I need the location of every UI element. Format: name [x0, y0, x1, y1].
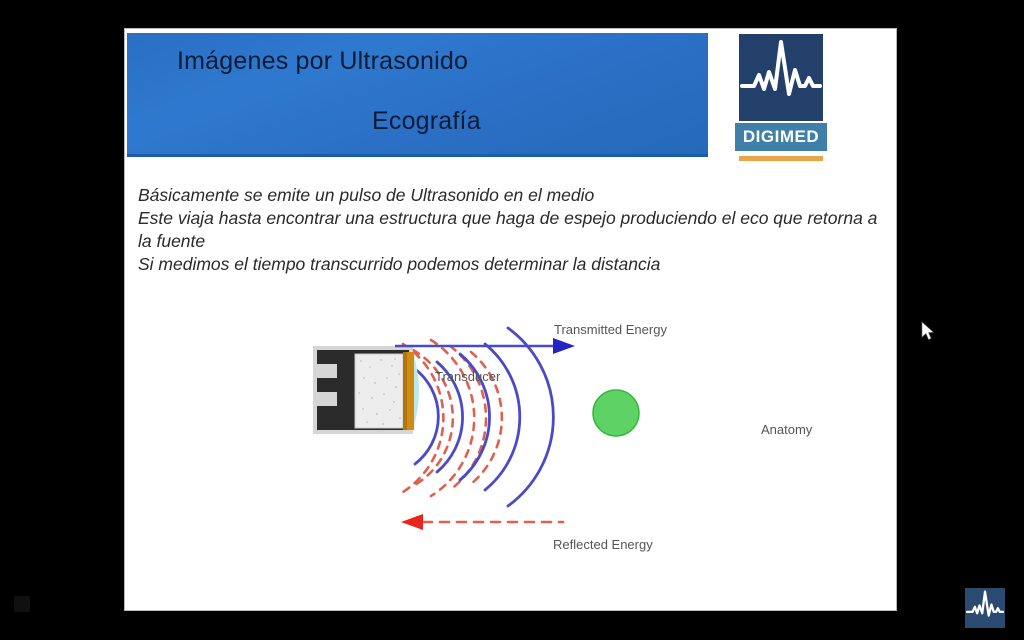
- slide-title-secondary: Ecografía: [372, 107, 481, 136]
- ultrasound-diagram: Transducer Transmitted Energy Reflected …: [295, 284, 725, 534]
- ecg-waveform-icon: [739, 34, 823, 121]
- logo-wordmark-band: DIGIMED: [735, 123, 827, 151]
- player-control-button[interactable]: [14, 596, 30, 612]
- diagram-label-anatomy: Anatomy: [761, 422, 812, 437]
- diagram-label-transmitted-energy: Transmitted Energy: [554, 322, 667, 337]
- anatomy-target: [590, 387, 642, 439]
- body-line-2: Este viaja hasta encontrar una estructur…: [138, 207, 888, 253]
- slide-title-banner: Imágenes por Ultrasonido Ecografía: [127, 33, 708, 157]
- ecg-waveform-icon: [965, 588, 1005, 628]
- slide-title-primary: Imágenes por Ultrasonido: [177, 47, 468, 76]
- video-player-screen: Imágenes por Ultrasonido Ecografía DIGIM…: [0, 0, 1024, 640]
- diagram-label-transducer: Transducer: [435, 369, 500, 384]
- transmitted-wave-arcs: [415, 328, 553, 506]
- transmitted-energy-arrow: [395, 338, 575, 354]
- digimed-logo: DIGIMED: [735, 34, 827, 166]
- mouse-cursor: [921, 321, 935, 341]
- watermark-logo: [965, 588, 1005, 628]
- body-line-3: Si medimos el tiempo transcurrido podemo…: [138, 253, 888, 276]
- body-line-1: Básicamente se emite un pulso de Ultraso…: [138, 184, 888, 207]
- slide-body-text: Básicamente se emite un pulso de Ultraso…: [138, 184, 888, 276]
- transducer-probe: [313, 346, 419, 434]
- logo-accent-bar: [739, 156, 823, 161]
- reflected-energy-arrow: [401, 514, 563, 530]
- presentation-slide: Imágenes por Ultrasonido Ecografía DIGIM…: [125, 29, 896, 610]
- diagram-label-reflected-energy: Reflected Energy: [553, 537, 653, 552]
- logo-wordmark-text: DIGIMED: [743, 127, 819, 147]
- reflected-wave-arcs: [403, 340, 502, 496]
